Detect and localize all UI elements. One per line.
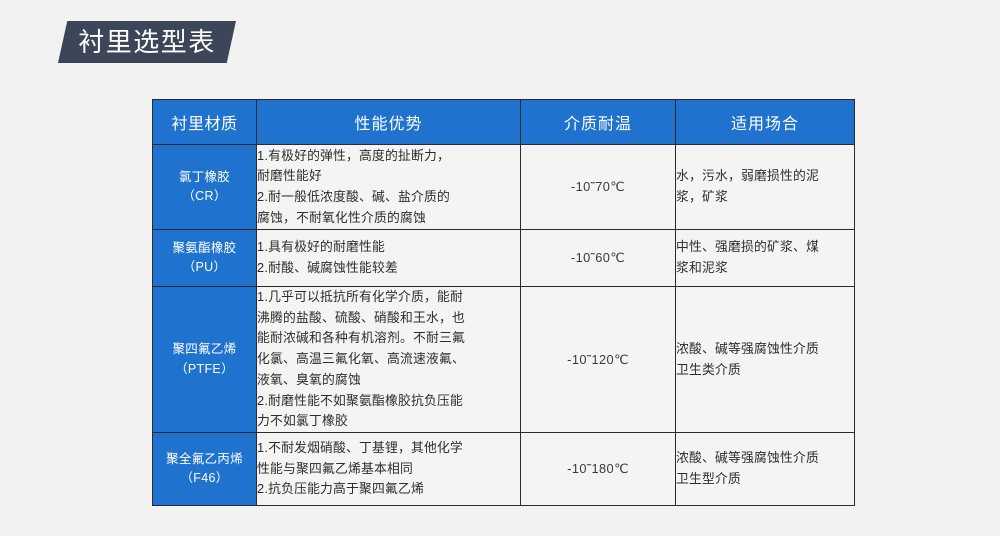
cell-material: 聚氨酯橡胶 （PU） <box>153 230 257 287</box>
table-row: 氯丁橡胶 （CR） 1.有极好的弹性，高度的扯断力， 耐磨性能好 2.耐一般低浓… <box>153 145 855 230</box>
performance-line: 耐磨性能好 <box>257 166 520 187</box>
column-header-temperature: 介质耐温 <box>521 100 676 145</box>
column-header-performance: 性能优势 <box>257 100 521 145</box>
performance-line: 2.抗负压能力高于聚四氟乙烯 <box>257 479 520 500</box>
material-abbr: （PU） <box>153 258 256 277</box>
performance-line: 化氯、高温三氟化氧、高流速液氟、 <box>257 349 520 370</box>
cell-performance: 1.有极好的弹性，高度的扯断力， 耐磨性能好 2.耐一般低浓度酸、碱、盐介质的 … <box>257 145 521 230</box>
page-title: 衬里选型表 <box>58 21 236 63</box>
material-name: 聚氨酯橡胶 <box>153 239 256 258</box>
application-line: 水，污水，弱磨损性的泥 <box>676 166 854 187</box>
material-name: 聚四氟乙烯 <box>153 340 256 359</box>
performance-line: 沸腾的盐酸、硫酸、硝酸和王水，也 <box>257 308 520 329</box>
performance-line: 2.耐一般低浓度酸、碱、盐介质的 <box>257 187 520 208</box>
material-name: 聚全氟乙丙烯 <box>153 450 256 469</box>
performance-line: 性能与聚四氟乙烯基本相同 <box>257 459 520 480</box>
performance-line: 1.几乎可以抵抗所有化学介质，能耐 <box>257 287 520 308</box>
material-abbr: （CR） <box>153 187 256 206</box>
application-line: 浆，矿浆 <box>676 187 854 208</box>
column-header-material: 衬里材质 <box>153 100 257 145</box>
cell-application: 中性、强磨损的矿浆、煤 浆和泥浆 <box>676 230 855 287</box>
cell-material: 聚四氟乙烯 （PTFE） <box>153 287 257 433</box>
cell-temperature: -10˜180℃ <box>521 433 676 506</box>
table-row: 聚全氟乙丙烯 （F46） 1.不耐发烟硝酸、丁基锂，其他化学 性能与聚四氟乙烯基… <box>153 433 855 506</box>
performance-line: 能耐浓碱和各种有机溶剂。不耐三氟 <box>257 328 520 349</box>
application-line: 卫生类介质 <box>676 360 854 381</box>
cell-temperature: -10˜70℃ <box>521 145 676 230</box>
application-line: 浓酸、碱等强腐蚀性介质 <box>676 448 854 469</box>
column-header-application: 适用场合 <box>676 100 855 145</box>
lining-selection-table-container: 衬里材质 性能优势 介质耐温 适用场合 氯丁橡胶 （CR） 1.有极好的弹性，高… <box>152 99 854 506</box>
application-line: 浆和泥浆 <box>676 258 854 279</box>
material-abbr: （PTFE） <box>153 360 256 379</box>
cell-performance: 1.几乎可以抵抗所有化学介质，能耐 沸腾的盐酸、硫酸、硝酸和王水，也 能耐浓碱和… <box>257 287 521 433</box>
cell-application: 水，污水，弱磨损性的泥 浆，矿浆 <box>676 145 855 230</box>
table-row: 聚四氟乙烯 （PTFE） 1.几乎可以抵抗所有化学介质，能耐 沸腾的盐酸、硫酸、… <box>153 287 855 433</box>
performance-line: 1.有极好的弹性，高度的扯断力， <box>257 146 520 167</box>
performance-line: 液氧、臭氧的腐蚀 <box>257 370 520 391</box>
cell-material: 氯丁橡胶 （CR） <box>153 145 257 230</box>
material-abbr: （F46） <box>153 469 256 488</box>
application-line: 浓酸、碱等强腐蚀性介质 <box>676 339 854 360</box>
cell-material: 聚全氟乙丙烯 （F46） <box>153 433 257 506</box>
cell-application: 浓酸、碱等强腐蚀性介质 卫生型介质 <box>676 433 855 506</box>
performance-line: 1.具有极好的耐磨性能 <box>257 237 520 258</box>
application-line: 中性、强磨损的矿浆、煤 <box>676 237 854 258</box>
cell-temperature: -10˜120℃ <box>521 287 676 433</box>
material-name: 氯丁橡胶 <box>153 168 256 187</box>
lining-selection-table: 衬里材质 性能优势 介质耐温 适用场合 氯丁橡胶 （CR） 1.有极好的弹性，高… <box>152 99 855 506</box>
performance-line: 2.耐磨性能不如聚氨酯橡胶抗负压能 <box>257 391 520 412</box>
cell-performance: 1.具有极好的耐磨性能 2.耐酸、碱腐蚀性能较差 <box>257 230 521 287</box>
table-row: 聚氨酯橡胶 （PU） 1.具有极好的耐磨性能 2.耐酸、碱腐蚀性能较差 -10˜… <box>153 230 855 287</box>
table-header: 衬里材质 性能优势 介质耐温 适用场合 <box>153 100 855 145</box>
application-line: 卫生型介质 <box>676 469 854 490</box>
cell-application: 浓酸、碱等强腐蚀性介质 卫生类介质 <box>676 287 855 433</box>
table-body: 氯丁橡胶 （CR） 1.有极好的弹性，高度的扯断力， 耐磨性能好 2.耐一般低浓… <box>153 145 855 506</box>
page-title-banner: 衬里选型表 <box>58 21 236 63</box>
performance-line: 腐蚀，不耐氧化性介质的腐蚀 <box>257 208 520 229</box>
table-header-row: 衬里材质 性能优势 介质耐温 适用场合 <box>153 100 855 145</box>
performance-line: 力不如氯丁橡胶 <box>257 411 520 432</box>
cell-performance: 1.不耐发烟硝酸、丁基锂，其他化学 性能与聚四氟乙烯基本相同 2.抗负压能力高于… <box>257 433 521 506</box>
performance-line: 1.不耐发烟硝酸、丁基锂，其他化学 <box>257 438 520 459</box>
cell-temperature: -10˜60℃ <box>521 230 676 287</box>
performance-line: 2.耐酸、碱腐蚀性能较差 <box>257 258 520 279</box>
